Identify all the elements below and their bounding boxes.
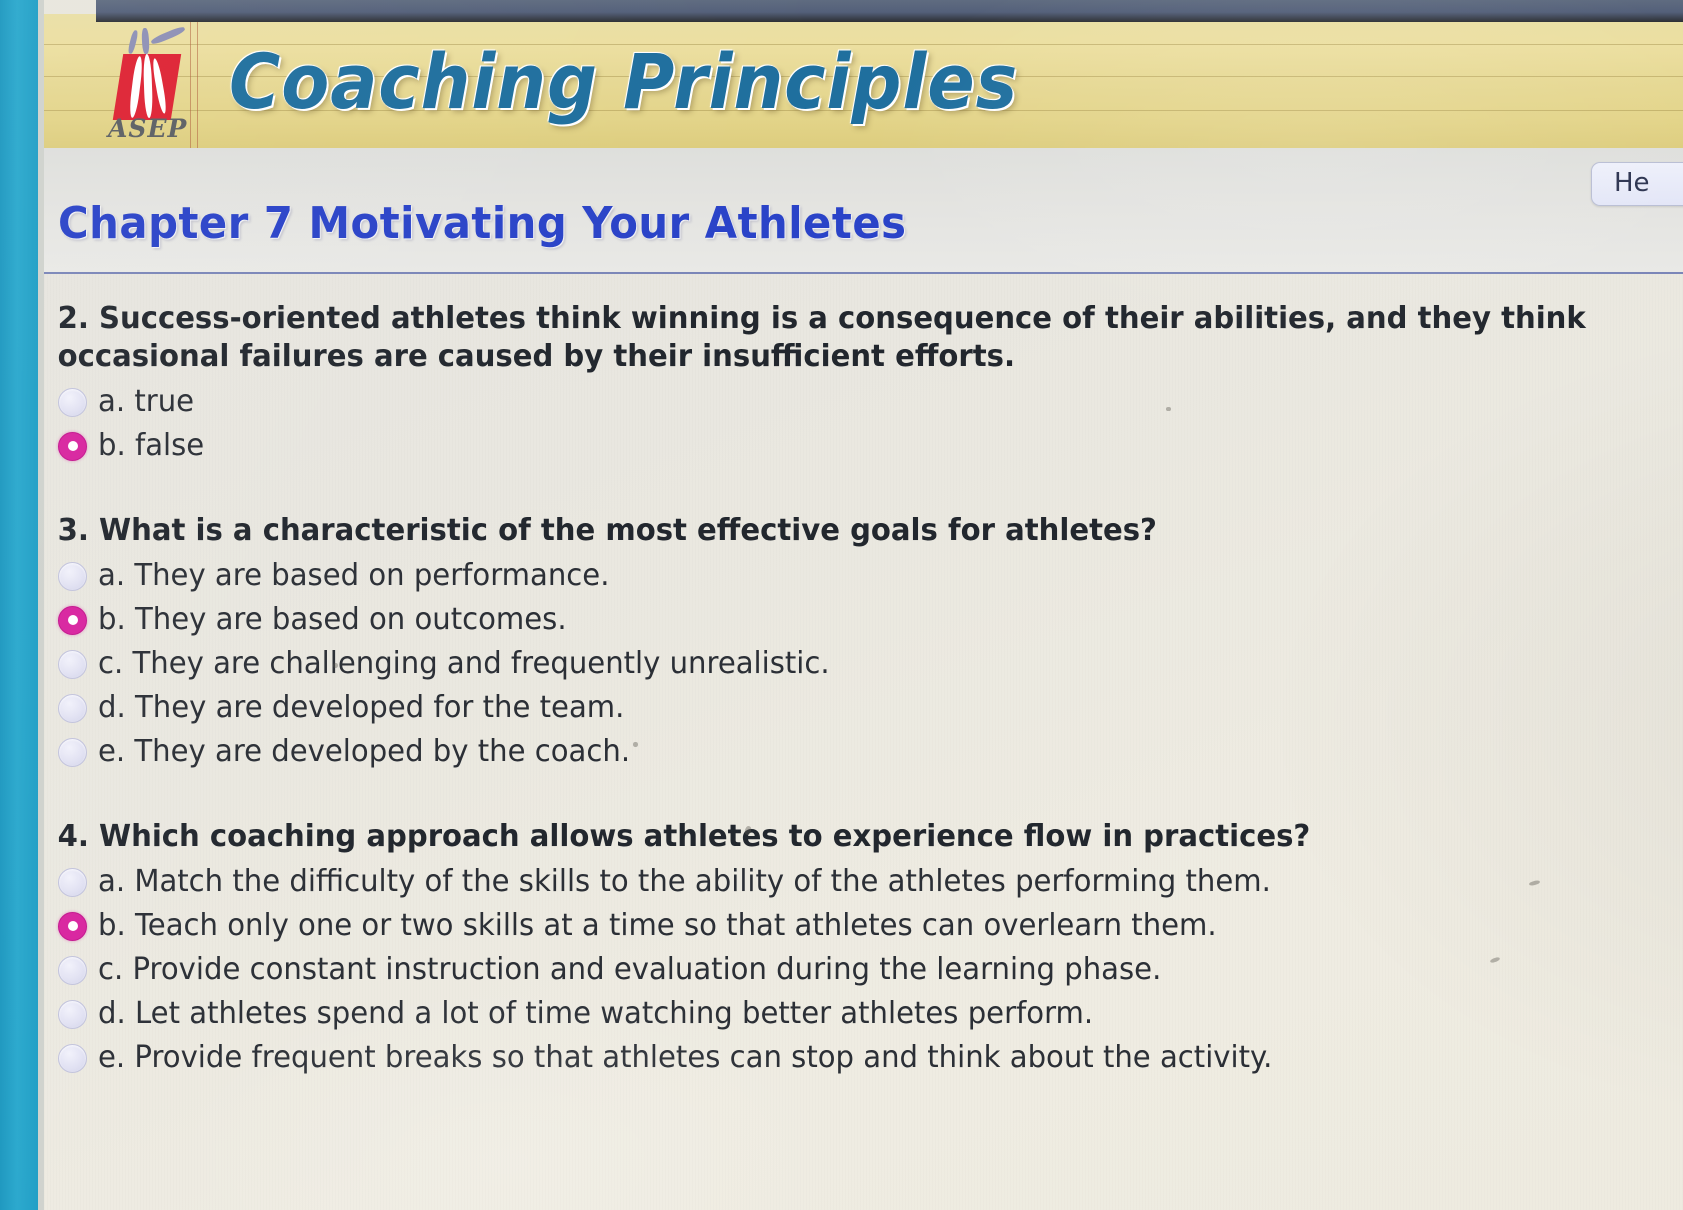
option-row[interactable]: a. true — [44, 380, 1683, 424]
option-row[interactable]: e. They are developed by the coach. — [44, 730, 1683, 774]
screen-edge-gap — [38, 0, 44, 1210]
asep-logo: ASEP — [102, 28, 194, 140]
option-row[interactable]: e. Provide frequent breaks so that athle… — [44, 1036, 1683, 1080]
option-label: b. Teach only one or two skills at a tim… — [98, 907, 1217, 945]
option-label: c. Provide constant instruction and eval… — [98, 951, 1161, 989]
logo-wing-shape — [127, 30, 139, 55]
question-text: 3. What is a characteristic of the most … — [44, 512, 1634, 550]
question-block: 2. Success-oriented athletes think winni… — [44, 274, 1683, 468]
option-row[interactable]: b. They are based on outcomes. — [44, 598, 1683, 642]
screen-photo: ASEP Coaching Principles He Chapter 7 Mo… — [0, 0, 1683, 1210]
option-label: b. false — [98, 427, 204, 465]
option-label: d. They are developed for the team. — [98, 689, 624, 727]
radio-icon-unselected[interactable] — [58, 738, 87, 767]
option-row[interactable]: a. Match the difficulty of the skills to… — [44, 860, 1683, 904]
radio-icon-unselected[interactable] — [58, 1000, 87, 1029]
logo-wing-shape — [141, 28, 149, 54]
option-label: e. They are developed by the coach. — [98, 733, 630, 771]
option-label: e. Provide frequent breaks so that athle… — [98, 1039, 1272, 1077]
option-label: a. true — [98, 383, 194, 421]
option-row[interactable]: a. They are based on performance. — [44, 554, 1683, 598]
option-row[interactable]: b. false — [44, 424, 1683, 468]
option-label: a. They are based on performance. — [98, 557, 609, 595]
radio-icon-unselected[interactable] — [58, 562, 87, 591]
radio-icon-unselected[interactable] — [58, 388, 87, 417]
option-label: d. Let athletes spend a lot of time watc… — [98, 995, 1093, 1033]
option-row[interactable]: b. Teach only one or two skills at a tim… — [44, 904, 1683, 948]
radio-icon-selected[interactable] — [58, 432, 87, 461]
question-block: 4. Which coaching approach allows athlet… — [44, 774, 1683, 1080]
monitor-left-strip — [0, 0, 38, 1210]
monitor-bezel — [96, 0, 1683, 22]
radio-icon-unselected[interactable] — [58, 868, 87, 897]
option-row[interactable]: d. Let athletes spend a lot of time watc… — [44, 992, 1683, 1036]
option-row[interactable]: d. They are developed for the team. — [44, 686, 1683, 730]
logo-wing-shape — [150, 25, 186, 46]
option-label: c. They are challenging and frequently u… — [98, 645, 830, 683]
option-label: a. Match the difficulty of the skills to… — [98, 863, 1271, 901]
question-text: 2. Success-oriented athletes think winni… — [44, 300, 1634, 376]
option-label: b. They are based on outcomes. — [98, 601, 567, 639]
radio-icon-selected[interactable] — [58, 912, 87, 941]
option-row[interactable]: c. Provide constant instruction and eval… — [44, 948, 1683, 992]
radio-icon-unselected[interactable] — [58, 1044, 87, 1073]
radio-icon-unselected[interactable] — [58, 694, 87, 723]
option-row[interactable]: c. They are challenging and frequently u… — [44, 642, 1683, 686]
question-block: 3. What is a characteristic of the most … — [44, 468, 1683, 774]
banner-title: Coaching Principles — [229, 34, 1018, 130]
page-title: Chapter 7 Motivating Your Athletes — [58, 198, 907, 249]
question-text: 4. Which coaching approach allows athlet… — [44, 818, 1634, 856]
radio-icon-selected[interactable] — [58, 606, 87, 635]
title-divider — [44, 272, 1683, 274]
banner-vertical-rule — [197, 14, 198, 148]
help-button[interactable]: He — [1591, 162, 1683, 206]
logo-wordmark: ASEP — [108, 114, 187, 143]
radio-icon-unselected[interactable] — [58, 956, 87, 985]
radio-icon-unselected[interactable] — [58, 650, 87, 679]
app-banner: ASEP Coaching Principles — [44, 14, 1683, 148]
quiz-content: 2. Success-oriented athletes think winni… — [44, 274, 1683, 1210]
